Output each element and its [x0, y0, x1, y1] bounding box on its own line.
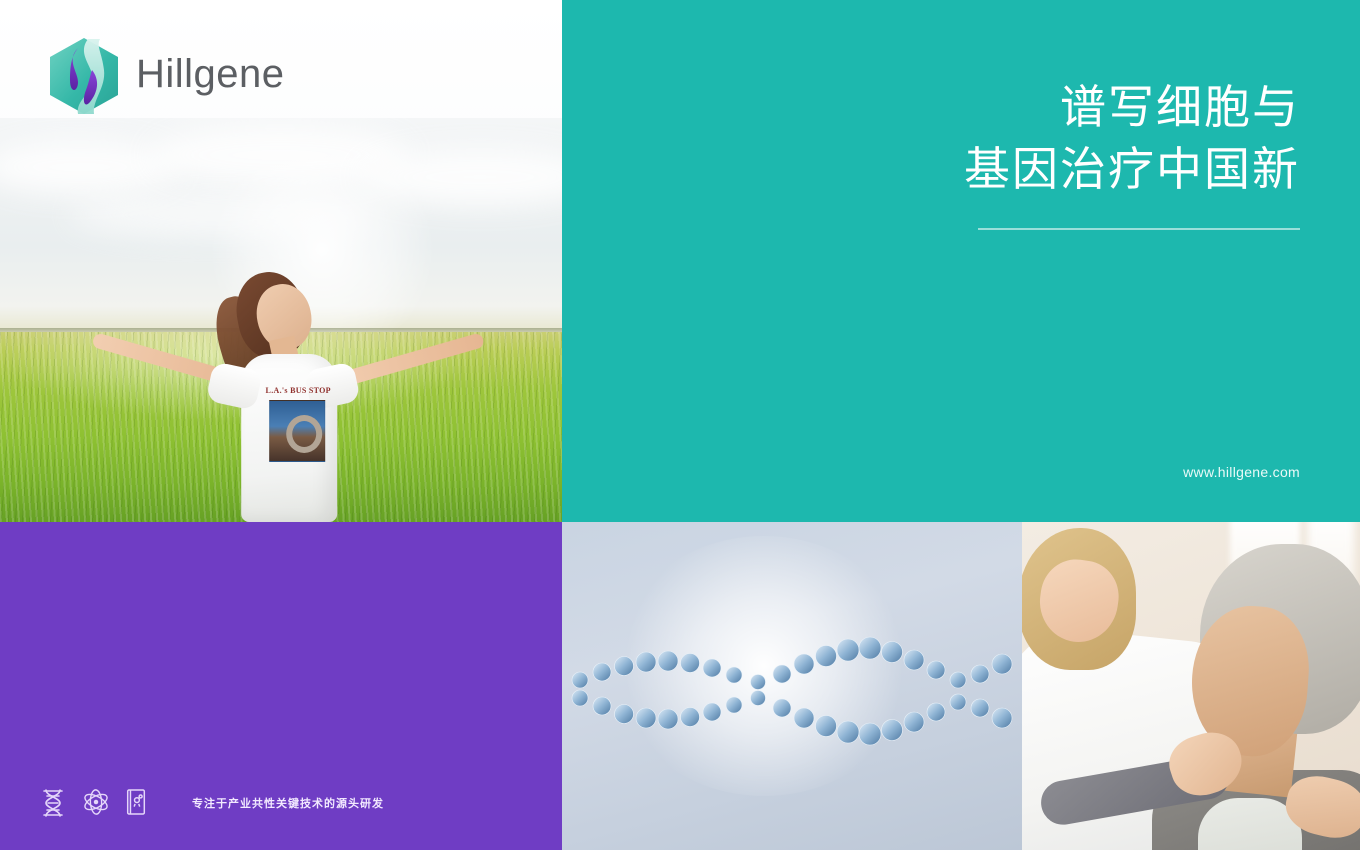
footer-tagline: 专注于产业共性关键技术的源头研发 [192, 795, 384, 811]
headline-line-1: 谱写细胞与 [964, 76, 1300, 138]
helix-graphic [562, 522, 1022, 850]
dna-double-helix-photo [562, 522, 1022, 850]
website-url[interactable]: www.hillgene.com [1183, 464, 1300, 480]
top-left-panel: L.A.'s BUS STOP [0, 0, 562, 522]
book-science-icon [124, 788, 150, 818]
headline-block: 谱写细胞与 基因治疗中国新 [964, 76, 1300, 200]
headline-divider [978, 228, 1300, 230]
woman-figure: L.A.'s BUS STOP [129, 272, 459, 522]
headline-line-2: 基因治疗中国新 [964, 138, 1300, 200]
brand-wordmark: Hillgene [136, 54, 285, 98]
hexagon-dna-logo-icon [48, 36, 120, 116]
footer-icon-row: 专注于产业共性关键技术的源头研发 [40, 788, 384, 818]
brand-lockup[interactable]: Hillgene [48, 36, 285, 116]
poster-canvas: L.A.'s BUS STOP [0, 0, 1360, 850]
dna-helix-icon [40, 788, 66, 818]
tshirt-print-text: L.A.'s BUS STOP [262, 386, 334, 395]
tshirt-print-image [269, 400, 325, 462]
headline-panel: 谱写细胞与 基因治疗中国新 www.hillgene.com [562, 0, 1360, 522]
caregiver-and-elderly-patient-photo [1022, 522, 1360, 850]
woman-in-wheat-field-photo: L.A.'s BUS STOP [0, 118, 562, 522]
atom-molecule-icon [82, 788, 108, 818]
purple-panel: 专注于产业共性关键技术的源头研发 [0, 522, 562, 850]
